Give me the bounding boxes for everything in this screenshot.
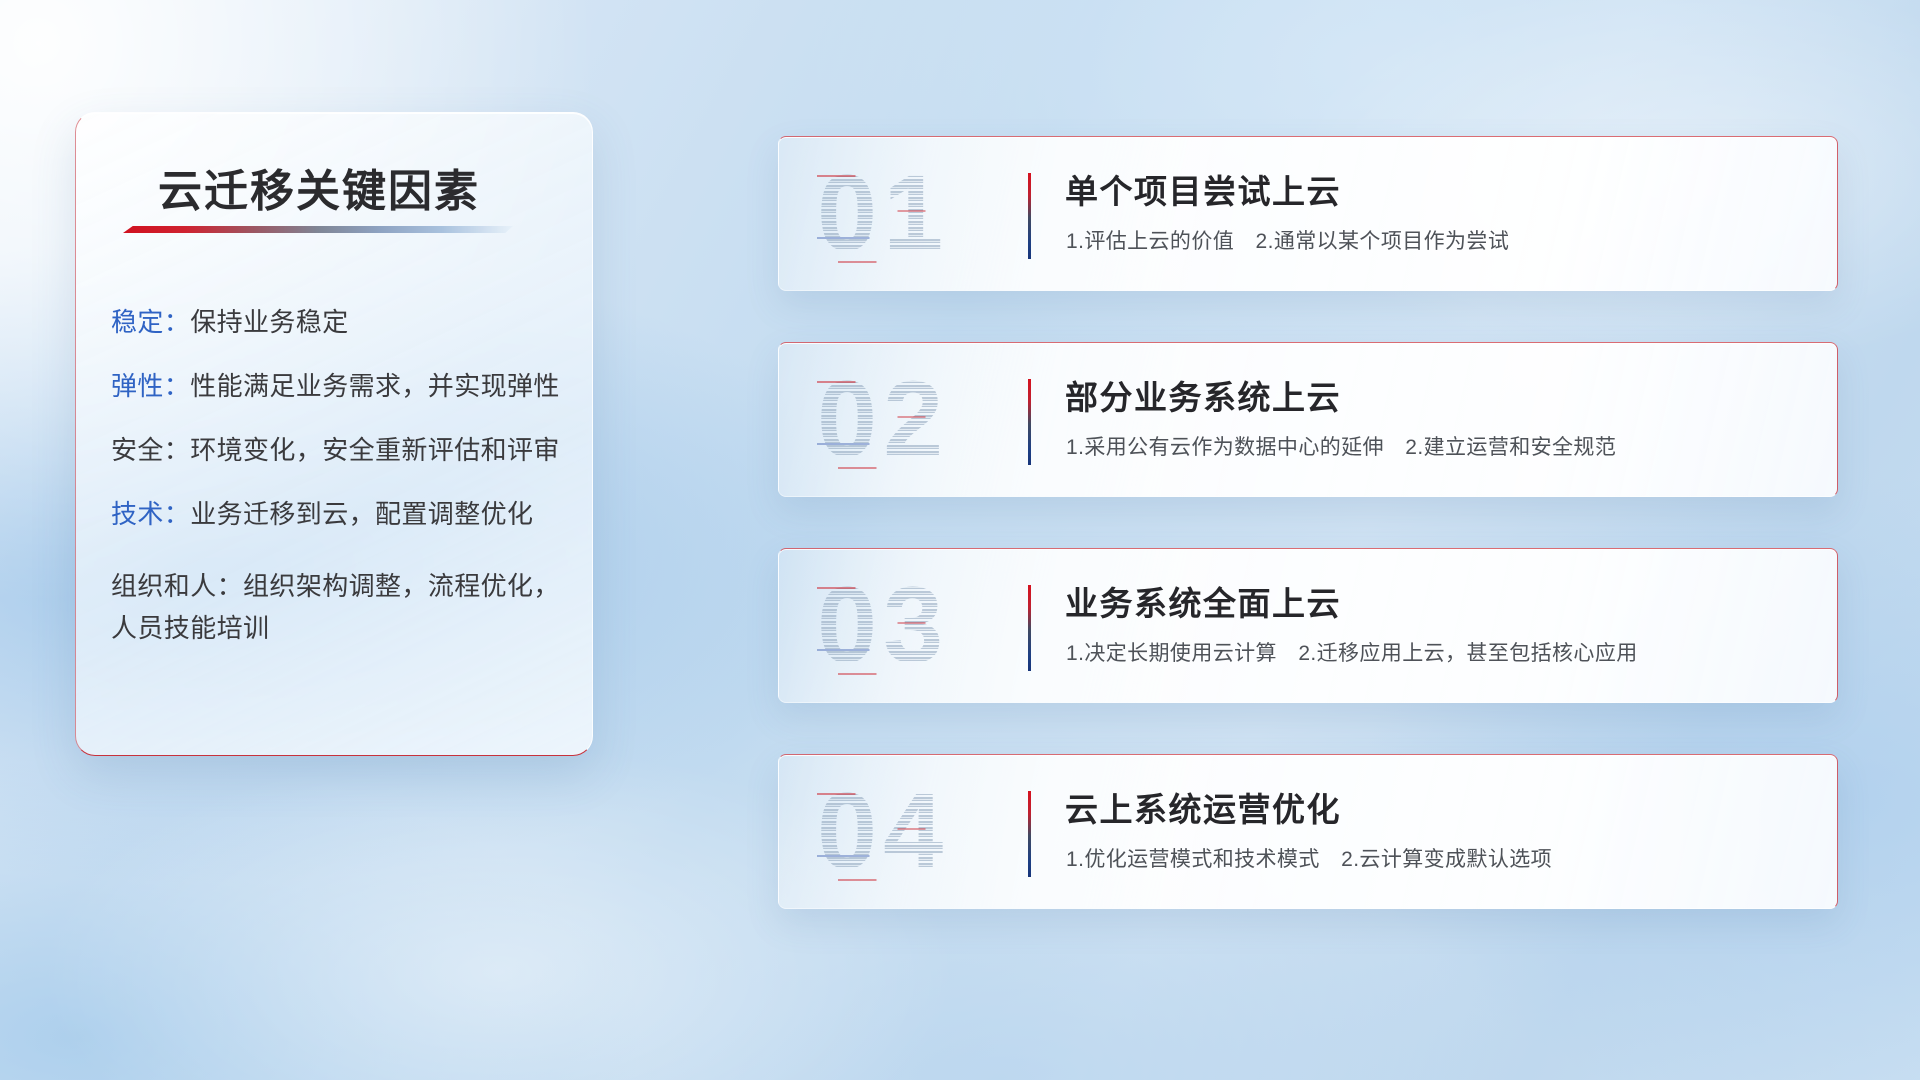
stage-card[interactable]: 04 云上系统运营优化 1.优化运营模式和技术模式 2.云计算变成默认选项 (778, 754, 1838, 909)
accent-divider-bar (1028, 173, 1031, 259)
stage-card-subtitle: 1.采用公有云作为数据中心的延伸 2.建立运营和安全规范 (1066, 431, 1616, 461)
stage-cards-list: 01 单个项目尝试上云 1.评估上云的价值 2.通常以某个项目作为尝试 02 部… (778, 136, 1838, 909)
stage-number: 04 (817, 767, 992, 895)
list-item-label: 技术： (111, 499, 190, 529)
list-item: 组织和人：组织架构调整，流程优化，人员技能培训 (111, 565, 581, 649)
accent-divider-bar (1028, 791, 1031, 877)
stage-card[interactable]: 03 业务系统全面上云 1.决定长期使用云计算 2.迁移应用上云，甚至包括核心应… (778, 548, 1838, 703)
list-item: 安全：环境变化，安全重新评估和评审 (111, 437, 581, 463)
list-item-label: 稳定： (111, 307, 190, 337)
stage-number: 02 (817, 355, 992, 483)
stage-card[interactable]: 02 部分业务系统上云 1.采用公有云作为数据中心的延伸 2.建立运营和安全规范 (778, 342, 1838, 497)
list-item: 技术：业务迁移到云，配置调整优化 (111, 501, 581, 527)
list-item-text: 业务迁移到云，配置调整优化 (190, 499, 533, 529)
key-factors-list: 稳定：保持业务稳定 弹性：性能满足业务需求，并实现弹性 安全：环境变化，安全重新… (111, 309, 581, 649)
stage-card-subtitle: 1.决定长期使用云计算 2.迁移应用上云，甚至包括核心应用 (1066, 637, 1638, 667)
accent-divider-bar (1028, 379, 1031, 465)
stage-card-title: 云上系统运营优化 (1065, 783, 1341, 831)
accent-divider-bar (1028, 585, 1031, 671)
title-underline-gradient (123, 226, 513, 233)
page-title: 云迁移关键因素 (158, 155, 480, 219)
stage-number: 01 (817, 149, 992, 277)
list-item: 弹性：性能满足业务需求，并实现弹性 (111, 373, 581, 399)
list-item-text: 保持业务稳定 (190, 307, 348, 337)
slide-canvas: 云迁移关键因素 稳定：保持业务稳定 弹性：性能满足业务需求，并实现弹性 安全：环… (0, 0, 1920, 1080)
list-item-text: 环境变化，安全重新评估和评审 (190, 435, 560, 465)
list-item-label: 组织和人： (111, 571, 243, 601)
list-item-text: 性能满足业务需求，并实现弹性 (190, 371, 560, 401)
stage-card-subtitle: 1.优化运营模式和技术模式 2.云计算变成默认选项 (1066, 843, 1552, 873)
stage-number: 03 (817, 561, 992, 689)
stage-card[interactable]: 01 单个项目尝试上云 1.评估上云的价值 2.通常以某个项目作为尝试 (778, 136, 1838, 291)
list-item-label: 弹性： (111, 371, 190, 401)
list-item-label: 安全： (111, 435, 190, 465)
stage-card-title: 单个项目尝试上云 (1065, 165, 1341, 213)
stage-card-subtitle: 1.评估上云的价值 2.通常以某个项目作为尝试 (1066, 225, 1509, 255)
key-factors-panel: 云迁移关键因素 稳定：保持业务稳定 弹性：性能满足业务需求，并实现弹性 安全：环… (75, 112, 593, 756)
stage-card-title: 部分业务系统上云 (1065, 371, 1341, 419)
list-item: 稳定：保持业务稳定 (111, 309, 581, 335)
stage-card-title: 业务系统全面上云 (1065, 577, 1341, 625)
